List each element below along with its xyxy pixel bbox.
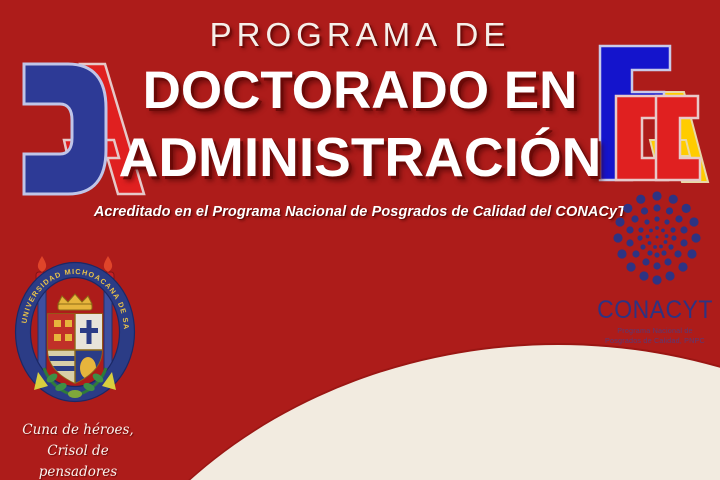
conacyt-logo: CONACYT Programa Nacional de Posgrados d…: [592, 186, 718, 361]
umsnh-motto: Cuna de héroes, Crisol de pensadores: [8, 420, 148, 480]
motto-line-2: Crisol de pensadores: [8, 441, 148, 480]
promo-banner: PROGRAMA DE DOCTORADO EN ADMINISTRACIÓN …: [0, 0, 720, 480]
conacyt-tagline-line-2: Posgrados de Calidad, PNPC: [592, 336, 718, 346]
conacyt-wordmark: CONACYT: [597, 298, 713, 323]
umsnh-crest-logo: UNIVERSIDAD MICHOACANA DE SAN NICOLAS DE…: [14, 244, 136, 404]
motto-line-1: Cuna de héroes,: [8, 420, 148, 441]
decorative-swoosh: [48, 345, 720, 480]
da-monogram-logo: [2, 28, 150, 198]
crest-crown-icon: [58, 294, 92, 310]
fcca-monogram-logo: [574, 30, 714, 190]
da-letter-d-icon: [24, 64, 106, 194]
conacyt-tagline-line-1: Programa Nacional de: [592, 326, 718, 336]
conacyt-tagline: Programa Nacional de Posgrados de Calida…: [592, 326, 718, 346]
conacyt-dot-ring-icon: [608, 186, 706, 296]
